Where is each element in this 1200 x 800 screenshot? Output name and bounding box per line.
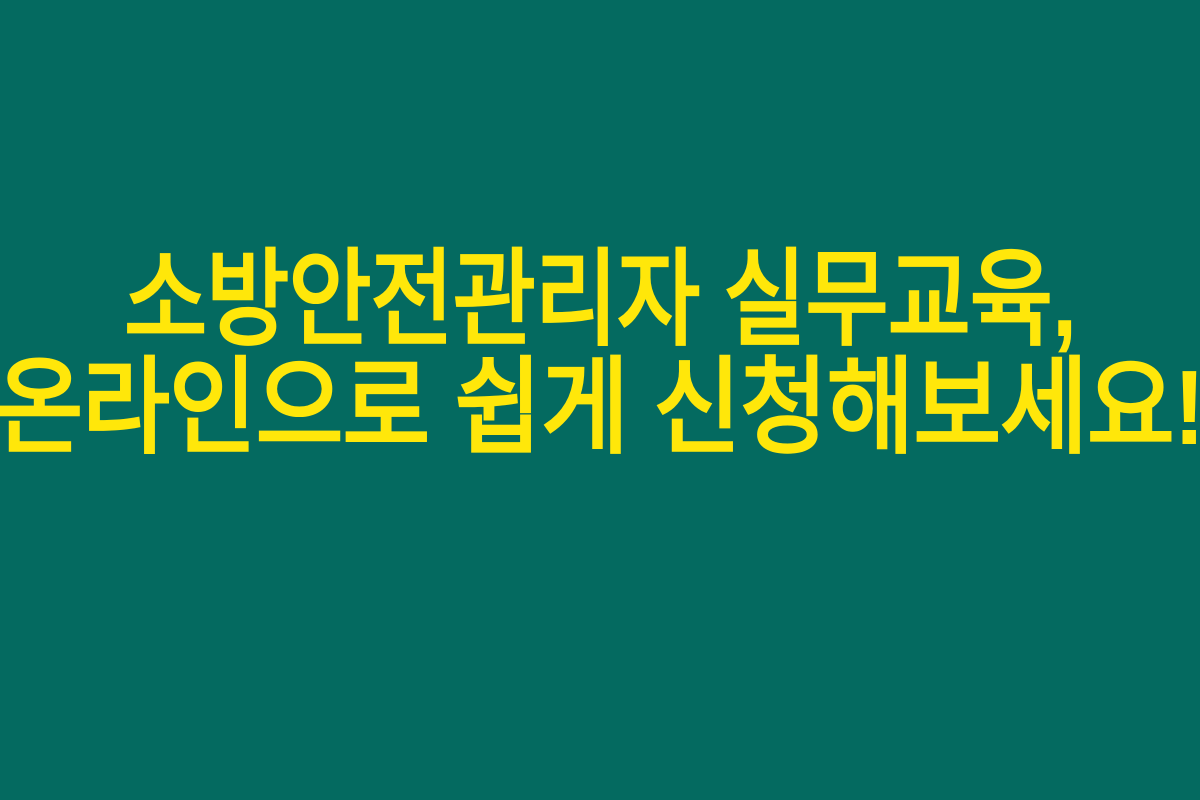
promo-banner: 소방안전관리자 실무교육, 온라인으로 쉽게 신청해보세요! <box>0 0 1200 800</box>
headline-line-1: 소방안전관리자 실무교육, <box>124 247 1076 353</box>
headline-line-2: 온라인으로 쉽게 신청해보세요! <box>0 355 1200 461</box>
headline-block: 소방안전관리자 실무교육, 온라인으로 쉽게 신청해보세요! <box>0 250 1200 458</box>
